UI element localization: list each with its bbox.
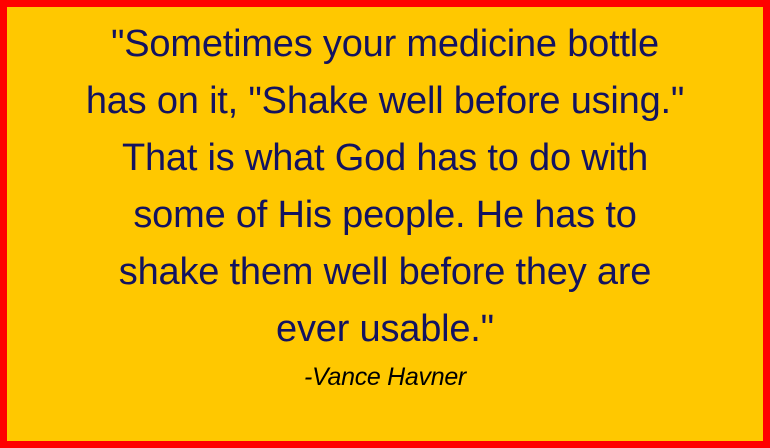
quote-content: "Sometimes your medicine bottle has on i… (7, 7, 763, 392)
quote-attribution: -Vance Havner (17, 358, 753, 392)
quote-text: "Sometimes your medicine bottle has on i… (17, 16, 753, 358)
quote-card: "Sometimes your medicine bottle has on i… (0, 0, 770, 448)
